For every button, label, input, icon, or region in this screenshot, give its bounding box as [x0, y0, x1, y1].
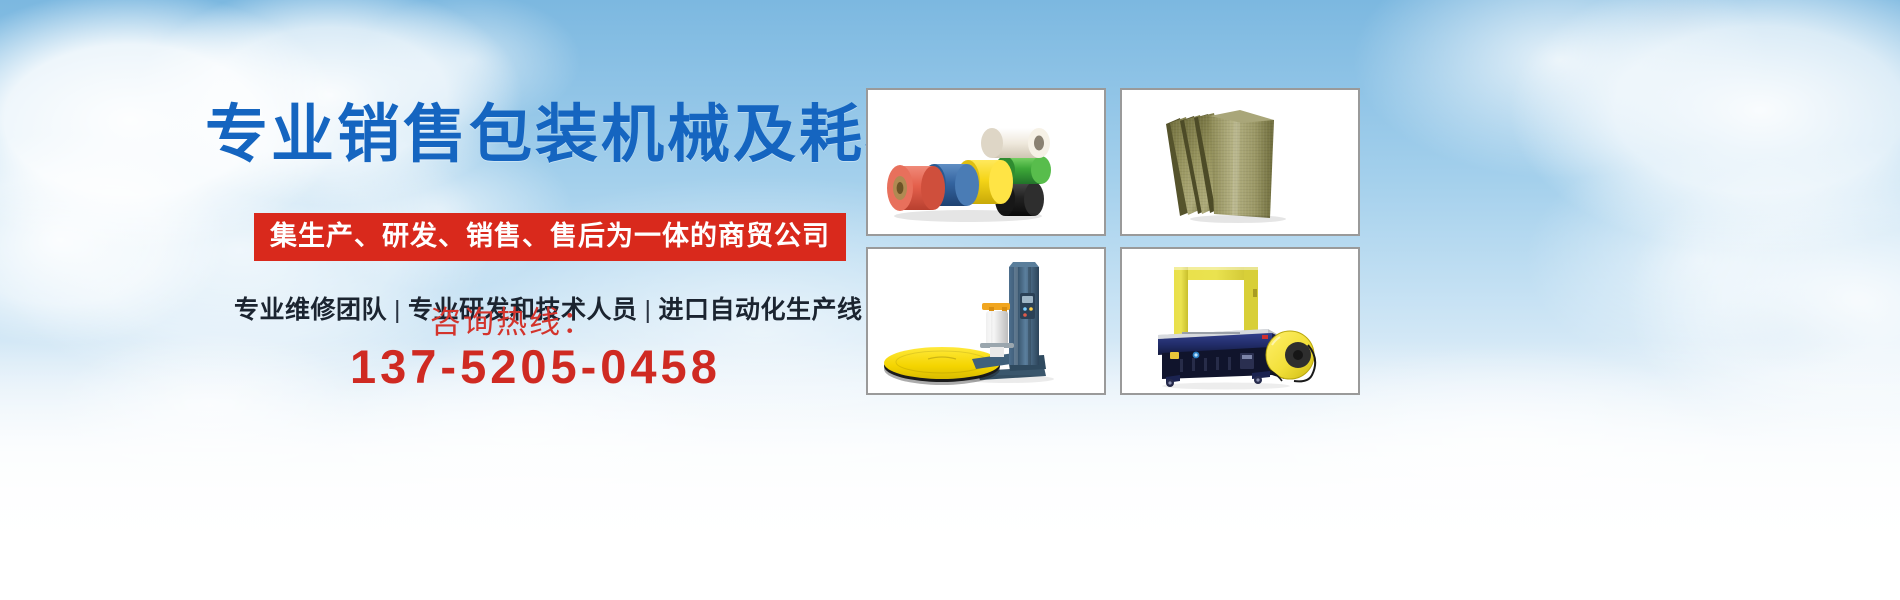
product-photo-strapping-machine[interactable] — [1120, 247, 1360, 395]
stretch-wrapper-image — [868, 249, 1104, 393]
strapping-machine-image — [1122, 249, 1358, 393]
promo-banner: 专业销售包装机械及耗材 集生产、研发、销售、售后为一体的商贸公司 专业维修团队|… — [0, 0, 1900, 600]
strap-rolls-image — [868, 90, 1104, 234]
woven-sacks-icon — [1122, 90, 1358, 234]
feature-item-1: 专业维修团队 — [234, 296, 387, 324]
strap-rolls-icon — [868, 90, 1104, 234]
product-photo-stretch-wrapper[interactable] — [866, 247, 1106, 395]
banner-headline: 专业销售包装机械及耗材 — [205, 104, 931, 167]
product-photo-strap-rolls[interactable] — [866, 88, 1106, 236]
hotline-label: 咨询热线： — [430, 297, 595, 342]
stretch-wrapper-icon — [868, 249, 1104, 393]
product-photo-woven-sacks[interactable] — [1120, 88, 1360, 236]
woven-sacks-image — [1122, 90, 1358, 234]
feature-separator-2: | — [638, 296, 659, 324]
tagline-badge: 集生产、研发、销售、售后为一体的商贸公司 — [254, 213, 846, 261]
product-photo-grid — [866, 88, 1638, 403]
strapping-machine-icon — [1122, 249, 1358, 393]
feature-separator-1: | — [387, 296, 408, 324]
feature-item-3: 进口自动化生产线 — [659, 296, 863, 324]
tagline-container: 集生产、研发、销售、售后为一体的商贸公司 — [254, 213, 846, 261]
hotline-number[interactable]: 137-5205-0458 — [350, 339, 721, 394]
